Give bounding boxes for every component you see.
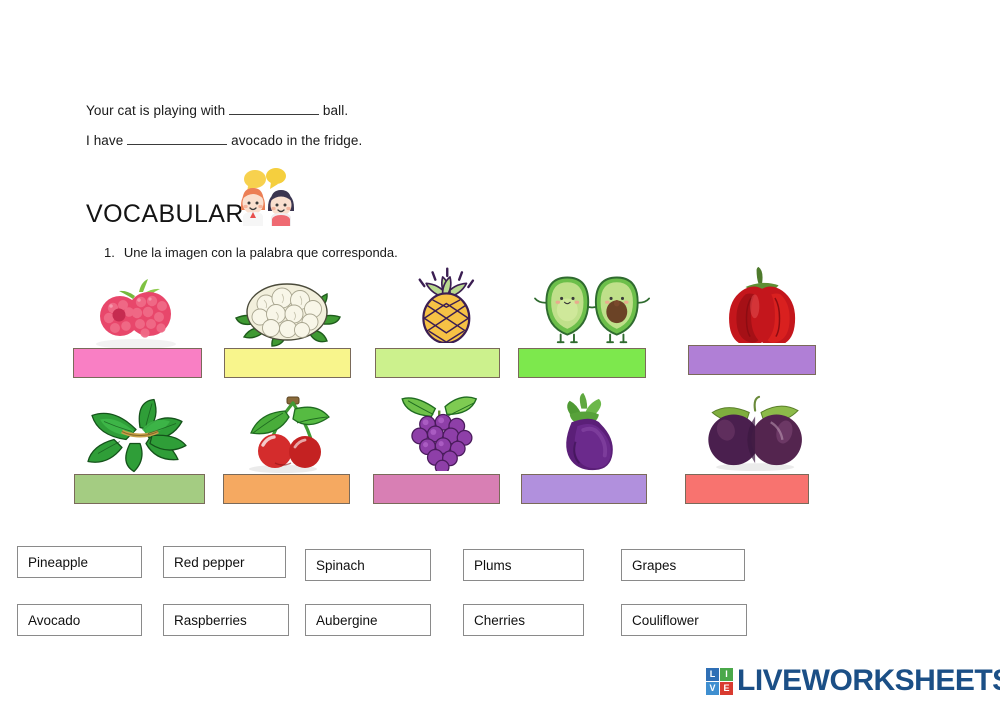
picture-cell-grapes: [373, 393, 523, 476]
exercise-instruction: 1.Une la imagen con la palabra que corre…: [104, 245, 398, 260]
word-box-pineapple[interactable]: Pineapple: [17, 546, 142, 578]
word-box-plums[interactable]: Plums: [463, 549, 584, 581]
instruction-text: Une la imagen con la palabra que corresp…: [124, 245, 398, 260]
logo-tile-e: E: [720, 682, 733, 695]
answer-bar-grapes[interactable]: [373, 474, 500, 504]
logo-tile-l: L: [706, 668, 719, 681]
red-pepper-icon: [688, 265, 838, 343]
fill-in-sentence-2: I have avocado in the fridge.: [86, 132, 362, 148]
sentence-2-blank[interactable]: [127, 132, 227, 145]
sentence-1-before: Your cat is playing with: [86, 103, 229, 118]
word-box-couliflower[interactable]: Couliflower: [621, 604, 747, 636]
cauliflower-icon: [224, 272, 374, 350]
word-box-raspberries[interactable]: Raspberries: [163, 604, 289, 636]
answer-bar-cherries[interactable]: [223, 474, 350, 504]
picture-cell-cauliflower: [224, 272, 374, 355]
answer-bar-raspberries[interactable]: [73, 348, 202, 378]
talking-people-icon: [228, 168, 304, 226]
plums-icon: [685, 393, 835, 471]
logo-tile-v: V: [706, 682, 719, 695]
liveworksheets-wordmark: LIVEWORKSHEETS: [737, 664, 1000, 698]
pineapple-icon: [375, 265, 525, 343]
answer-bar-aubergine[interactable]: [521, 474, 647, 504]
sentence-1-blank[interactable]: [229, 102, 319, 115]
picture-cell-red-pepper: [688, 265, 838, 348]
sentence-2-before: I have: [86, 133, 127, 148]
sentence-1-after: ball.: [319, 103, 348, 118]
word-box-red-pepper[interactable]: Red pepper: [163, 546, 286, 578]
word-box-spinach[interactable]: Spinach: [305, 549, 431, 581]
word-box-cherries[interactable]: Cherries: [463, 604, 584, 636]
eggplant-icon: [521, 393, 671, 471]
word-box-grapes[interactable]: Grapes: [621, 549, 745, 581]
picture-cell-cherries: [223, 395, 373, 478]
liveworksheets-logo[interactable]: L I V E LIVEWORKSHEETS: [706, 662, 1000, 700]
answer-bar-plums[interactable]: [685, 474, 809, 504]
spinach-icon: [74, 398, 224, 476]
picture-cell-plums: [685, 393, 835, 476]
answer-bar-spinach[interactable]: [74, 474, 205, 504]
picture-cell-aubergine: [521, 393, 671, 476]
liveworksheets-logo-tiles: L I V E: [706, 668, 733, 695]
word-box-aubergine[interactable]: Aubergine: [305, 604, 431, 636]
picture-cell-spinach: [74, 398, 224, 481]
grapes-icon: [373, 393, 523, 471]
raspberries-icon: [73, 272, 223, 350]
instruction-number: 1.: [104, 245, 115, 260]
picture-cell-raspberries: [73, 272, 223, 355]
picture-cell-avocado: [518, 268, 668, 351]
answer-bar-red-pepper[interactable]: [688, 345, 816, 375]
logo-tile-i: I: [720, 668, 733, 681]
worksheet-page: Your cat is playing with ball. I have av…: [0, 0, 1000, 707]
sentence-2-after: avocado in the fridge.: [227, 133, 362, 148]
answer-bar-pineapple[interactable]: [375, 348, 500, 378]
avocado-pair-icon: [518, 268, 668, 346]
answer-bar-avocado[interactable]: [518, 348, 646, 378]
cherries-icon: [223, 395, 373, 473]
picture-cell-pineapple: [375, 265, 525, 348]
word-box-avocado[interactable]: Avocado: [17, 604, 142, 636]
answer-bar-cauliflower[interactable]: [224, 348, 351, 378]
fill-in-sentence-1: Your cat is playing with ball.: [86, 102, 348, 118]
